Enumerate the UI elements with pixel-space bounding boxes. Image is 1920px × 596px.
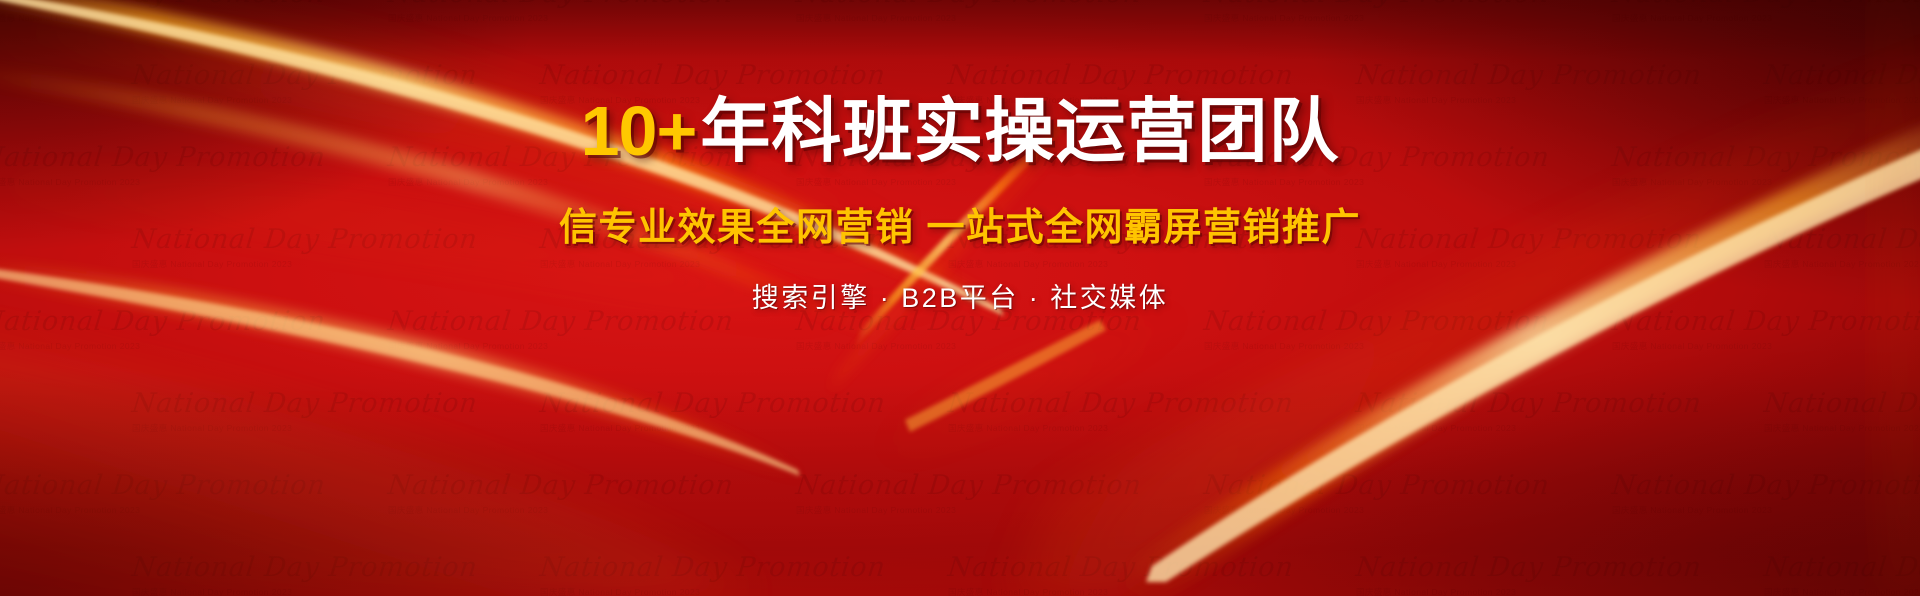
headline-chinese: 年科班实操运营团队 (700, 92, 1339, 170)
headline: 10+年科班实操运营团队 (581, 96, 1340, 166)
headline-number: 10+ (581, 92, 697, 170)
promotional-banner: National Day Promotion国庆盛惠 National Day … (0, 0, 1920, 596)
tagline-channels: 搜索引擎 · B2B平台 · 社交媒体 (752, 276, 1169, 315)
subheadline: 信专业效果全网营销 一站式全网霸屏营销推广 (559, 196, 1361, 251)
banner-text-block: 10+年科班实操运营团队 信专业效果全网营销 一站式全网霸屏营销推广 搜索引擎 … (0, 0, 1920, 596)
